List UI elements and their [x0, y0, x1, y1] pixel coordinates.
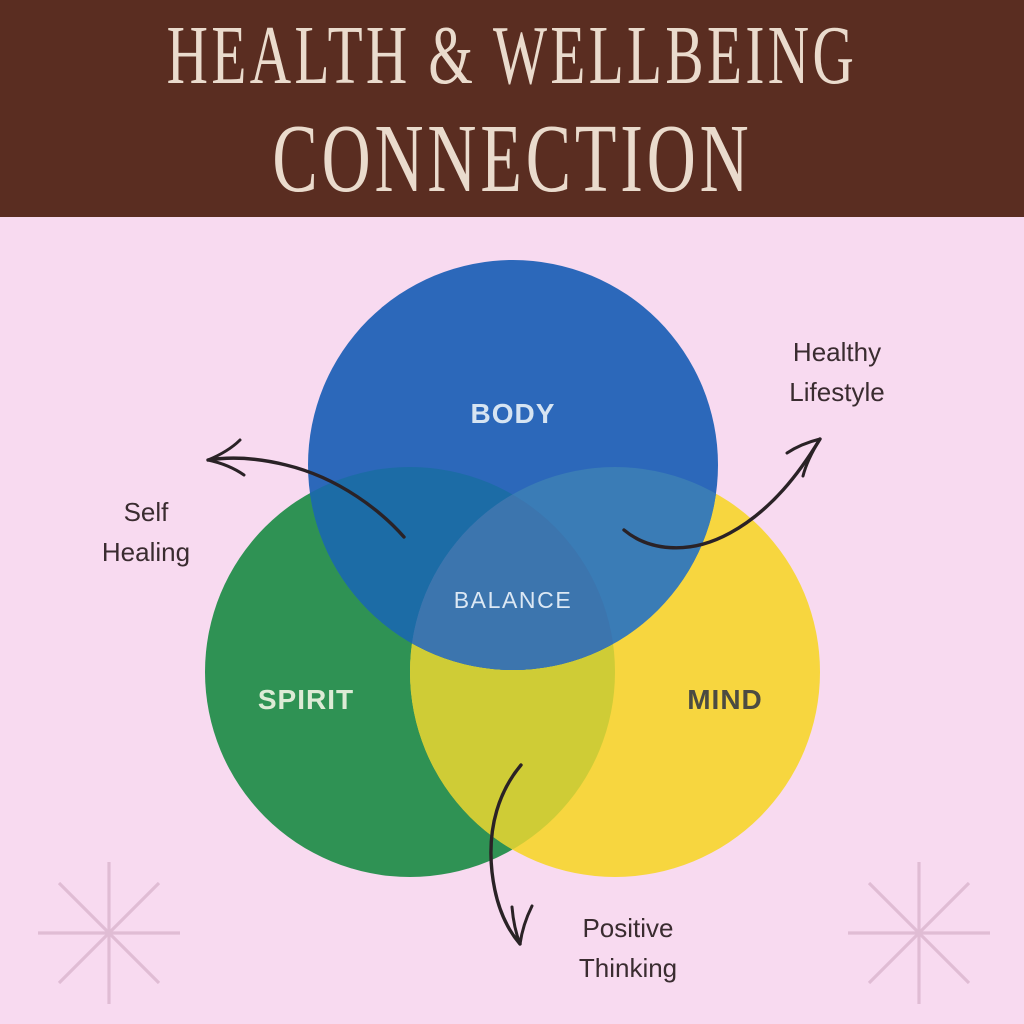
infographic-poster: HEALTH & WELLBEING CONNECTION	[0, 0, 1024, 1024]
venn-label-body: BODY	[413, 398, 613, 430]
venn-label-mind: MIND	[625, 684, 825, 716]
venn-label-balance: BALANCE	[413, 587, 613, 614]
annotation-healthy-lifestyle: Healthy Lifestyle	[742, 332, 932, 413]
venn-label-spirit: SPIRIT	[206, 684, 406, 716]
starburst-ornament-left	[34, 858, 184, 1008]
annotation-self-healing: Self Healing	[56, 492, 236, 573]
starburst-ornament-right	[844, 858, 994, 1008]
annotation-positive-thinking: Positive Thinking	[528, 908, 728, 989]
